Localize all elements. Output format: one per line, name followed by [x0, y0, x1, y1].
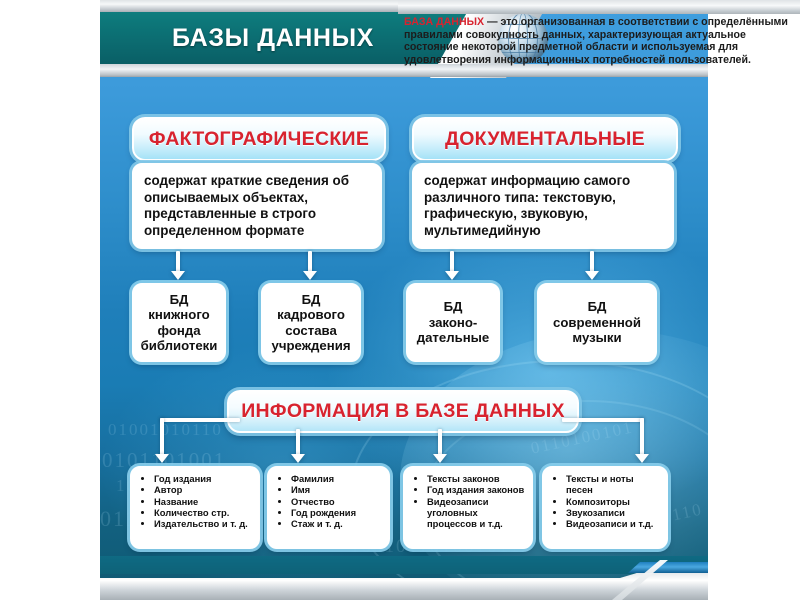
list-item: Год рождения [291, 507, 384, 518]
database-line: современной [553, 315, 641, 330]
list-item: Тексты законов [427, 473, 527, 484]
info-list-books: Год издания Автор Название Количество ст… [130, 466, 260, 549]
connector-line [438, 429, 442, 456]
arrow-head-icon [635, 454, 649, 463]
arrow-head-icon [291, 454, 305, 463]
database-box-music: БД современной музыки [537, 283, 657, 362]
list-item: Количество стр. [154, 507, 254, 518]
info-list: Фамилия Имя Отчество Год рождения Стаж и… [271, 473, 384, 529]
database-line: законо- [429, 315, 478, 330]
list-item: Фамилия [291, 473, 384, 484]
database-line: БД [444, 299, 463, 314]
definition-text: БАЗА ДАННЫХ — это организованная в соотв… [404, 16, 796, 66]
list-item: Издательство и т. д. [154, 518, 254, 529]
database-box-library: БД книжного фонда библиотеки [132, 283, 226, 362]
info-list: Тексты законов Год издания законов Видео… [407, 473, 527, 529]
database-line: состава [285, 323, 337, 338]
database-line: дательные [417, 330, 490, 345]
database-line: музыки [572, 330, 621, 345]
list-item: Название [154, 496, 254, 507]
list-item: Имя [291, 484, 384, 495]
database-line: БД [588, 299, 607, 314]
connector-line [160, 418, 164, 456]
category-body-factual: содержат краткие сведения об описываемых… [132, 163, 382, 249]
info-list: Тексты и ноты песен Композиторы Звукозап… [546, 473, 662, 529]
database-line: БД [170, 292, 189, 307]
database-line: книжного [148, 307, 209, 322]
list-item: Видеозаписи уголовных процессов и т.д. [427, 496, 527, 530]
database-line: учреждения [271, 338, 350, 353]
connector-line [160, 418, 240, 422]
arrow-head-icon [445, 271, 459, 280]
poster-canvas: 01001010110 0101101001 10010110101 01101… [100, 0, 708, 600]
arrow-head-icon [585, 271, 599, 280]
info-list-laws: Тексты законов Год издания законов Видео… [403, 466, 533, 549]
database-box-legislative: БД законо- дательные [406, 283, 500, 362]
connector-line [176, 251, 180, 273]
info-list-music: Тексты и ноты песен Композиторы Звукозап… [542, 466, 668, 549]
footer-teal-band [100, 556, 708, 574]
connector-line [640, 418, 644, 456]
list-item: Композиторы [566, 496, 662, 507]
arrow-head-icon [303, 271, 317, 280]
info-banner-title: ИНФОРМАЦИЯ В БАЗЕ ДАННЫХ [227, 390, 579, 433]
binary-texture: 01001010110 [108, 420, 223, 440]
database-line: кадрового [277, 307, 345, 322]
connector-line [590, 251, 594, 273]
list-item: Видеозаписи и т.д. [566, 518, 662, 529]
info-list: Год издания Автор Название Количество ст… [134, 473, 254, 529]
list-item: Год издания законов [427, 484, 527, 495]
arrow-head-icon [155, 454, 169, 463]
info-list-personnel: Фамилия Имя Отчество Год рождения Стаж и… [267, 466, 390, 549]
page-title: БАЗЫ ДАННЫХ [100, 12, 446, 64]
definition-top-bar [398, 0, 800, 14]
list-item: Отчество [291, 496, 384, 507]
database-line: фонда [157, 323, 200, 338]
footer-blue-stripe [628, 562, 708, 573]
list-item: Автор [154, 484, 254, 495]
database-box-personnel: БД кадрового состава учреждения [261, 283, 361, 362]
arrow-head-icon [171, 271, 185, 280]
list-item: Тексты и ноты песен [566, 473, 662, 496]
database-line: библиотеки [141, 338, 218, 353]
definition-keyword: БАЗА ДАННЫХ [404, 16, 484, 28]
category-body-documentary: содержат информацию самого различного ти… [412, 163, 674, 249]
arrow-head-icon [433, 454, 447, 463]
list-item: Звукозаписи [566, 507, 662, 518]
list-item: Стаж и т. д. [291, 518, 384, 529]
connector-line [308, 251, 312, 273]
connector-line [562, 418, 644, 422]
connector-line [450, 251, 454, 273]
database-line: БД [302, 292, 321, 307]
category-title-documentary: ДОКУМЕНТАЛЬНЫЕ [412, 117, 678, 161]
list-item: Год издания [154, 473, 254, 484]
category-title-factual: ФАКТОГРАФИЧЕСКИЕ [132, 117, 386, 161]
connector-line [296, 429, 300, 456]
